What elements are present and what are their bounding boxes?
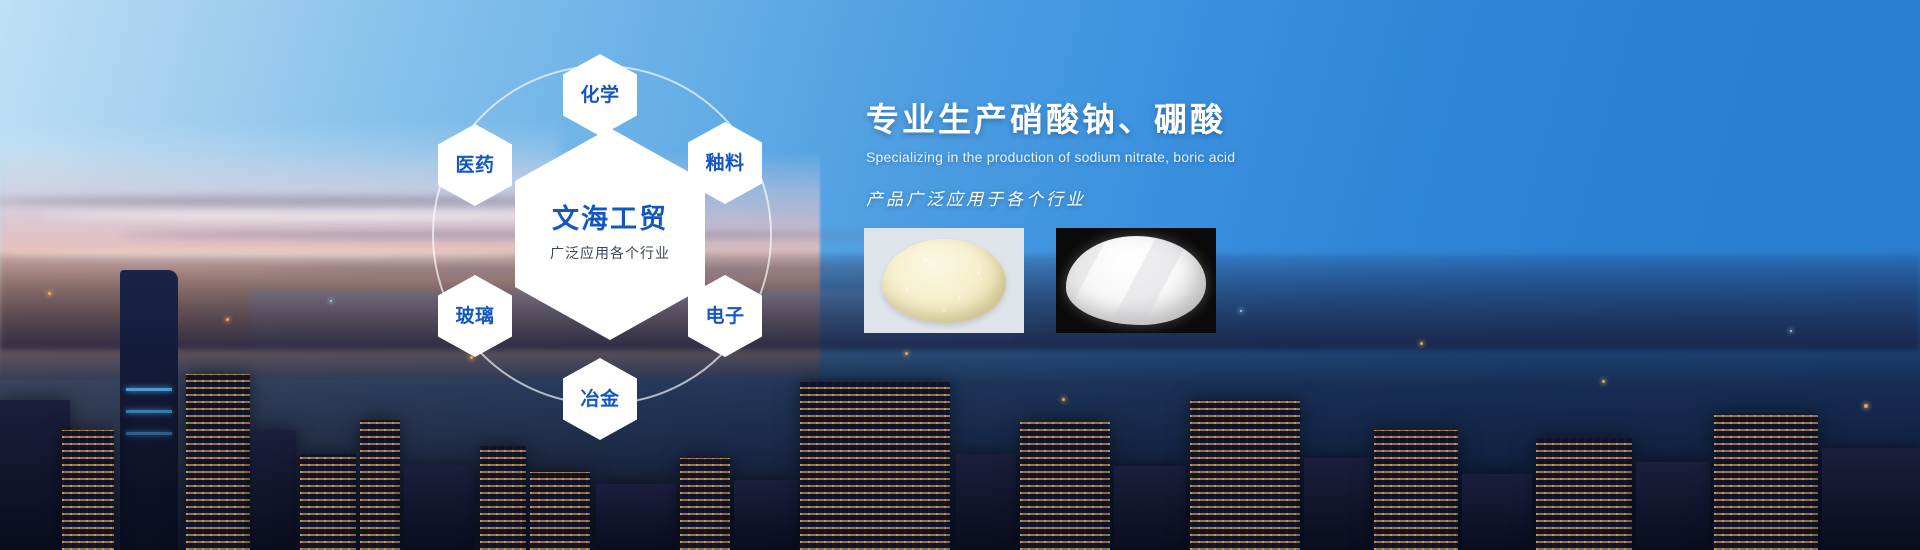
industry-hexagon-diagram: 化学 釉料 电子 冶金 玻璃 医药 文海工贸 广泛应用各个行业	[410, 25, 810, 445]
promo-banner: 化学 釉料 电子 冶金 玻璃 医药 文海工贸 广泛应用各个行业 专业生产硝酸钠、…	[0, 0, 1920, 550]
building	[1822, 448, 1920, 550]
building	[120, 270, 178, 550]
hex-node-label: 釉料	[705, 154, 744, 173]
building	[252, 430, 296, 550]
product-photo-boric-acid[interactable]: 硼酸	[1056, 228, 1216, 333]
building	[1304, 458, 1370, 550]
building	[530, 472, 590, 550]
building	[62, 430, 114, 550]
hex-node-label: 冶金	[580, 390, 619, 409]
hex-node-label: 化学	[580, 86, 619, 105]
building	[1462, 474, 1532, 550]
building	[404, 466, 474, 550]
building	[1536, 438, 1632, 550]
building	[1114, 466, 1186, 550]
product-photo-sodium-nitrate[interactable]: 硝酸钠	[864, 228, 1024, 333]
building	[480, 446, 526, 550]
powder-pile	[1066, 236, 1207, 324]
building	[300, 454, 356, 550]
headline: 专业生产硝酸钠、硼酸	[866, 100, 1506, 140]
hex-node-label: 玻璃	[455, 307, 494, 326]
building	[596, 484, 676, 550]
tagline: 产品广泛应用于各个行业	[866, 185, 1506, 210]
product-photo-gallery: 硝酸钠 硼酸	[864, 228, 1216, 333]
company-subtitle: 广泛应用各个行业	[550, 243, 670, 263]
building	[1714, 414, 1818, 550]
building	[680, 458, 730, 550]
building	[1190, 400, 1300, 550]
building	[1636, 462, 1710, 550]
building	[1374, 430, 1458, 550]
hex-node-label: 医药	[455, 156, 494, 175]
building	[800, 382, 950, 550]
building	[0, 400, 70, 550]
building	[186, 374, 250, 550]
powder-pile	[882, 239, 1007, 323]
building	[1020, 422, 1110, 550]
hex-node-label: 电子	[705, 307, 744, 326]
building	[360, 420, 400, 550]
banner-copy: 专业生产硝酸钠、硼酸 Specializing in the productio…	[866, 100, 1506, 210]
company-name: 文海工贸	[552, 205, 668, 235]
building	[956, 454, 1016, 550]
building	[734, 480, 798, 550]
headline-subtitle-en: Specializing in the production of sodium…	[866, 149, 1506, 165]
